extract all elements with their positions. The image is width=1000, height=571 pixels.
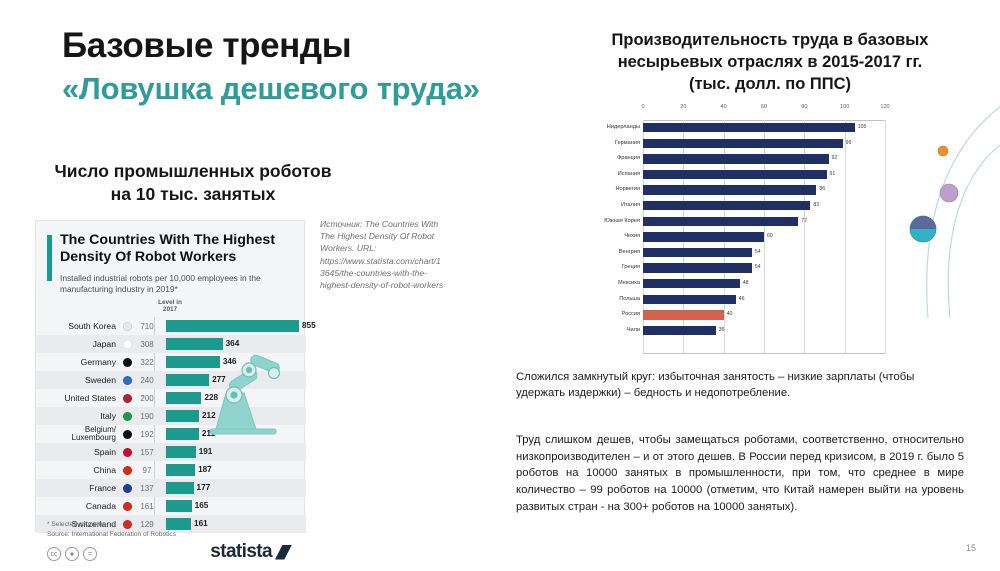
category-label: Норвегия (594, 185, 643, 194)
statista-row: France137177 (36, 479, 306, 497)
bar (166, 500, 192, 512)
bar (643, 248, 752, 257)
level-column-header: Level in2017 (146, 299, 194, 313)
statista-footnote: * Selected countries (47, 521, 106, 528)
category-label: Южная Корея (594, 217, 643, 226)
bar-value-label: 99 (843, 139, 852, 148)
country-label: United States (36, 394, 120, 403)
country-label: South Korea (36, 322, 120, 331)
flag-icon (120, 466, 134, 475)
orbit-arc-outer (927, 107, 1000, 318)
category-label: Италия (594, 201, 643, 210)
category-label: Испания (594, 170, 643, 179)
statista-row: Canada161165 (36, 497, 306, 515)
statista-logo: statista (210, 541, 292, 563)
flag-icon (120, 412, 134, 421)
x-tick-label: 80 (801, 104, 807, 110)
bar-cell: 177 (166, 482, 306, 494)
category-label: Нидерланды (594, 123, 643, 132)
bar (643, 139, 843, 148)
bar (643, 295, 736, 304)
category-label: Венгрия (594, 248, 643, 257)
left-chart-heading-line2: на 10 тыс. занятых (111, 184, 276, 204)
bar (643, 217, 798, 226)
page-title: Базовые тренды (62, 27, 351, 65)
x-axis-tick-labels: 020406080100120 (643, 104, 885, 118)
category-label: Чили (594, 326, 643, 335)
bar-value-label: 92 (829, 154, 838, 163)
chart-row: Италия83 (643, 198, 885, 214)
category-label: Россия (594, 310, 643, 319)
flag-icon (120, 520, 134, 529)
chart-row: Испания91 (643, 167, 885, 183)
chart-row: Венгрия54 (643, 245, 885, 261)
right-chart-title-line2: несырьевых отраслях в 2015-2017 гг. (618, 53, 923, 71)
chart-row: Германия99 (643, 136, 885, 152)
flag-icon (120, 430, 134, 439)
country-label: Germany (36, 358, 120, 367)
flag-icon (120, 322, 134, 331)
decorative-planets-graphic (880, 105, 1000, 320)
statista-infographic-card: The Countries With The Highest Density O… (35, 220, 305, 532)
x-tick-label: 100 (840, 104, 849, 110)
left-chart-heading-line1: Число промышленных роботов (55, 161, 332, 181)
bar (643, 170, 827, 179)
level-2017-value: 710 (134, 322, 160, 331)
bar (166, 464, 195, 476)
bar-value-label: 91 (827, 170, 836, 179)
statista-subtitle: Installed industrial robots per 10,000 e… (60, 273, 290, 296)
right-chart-title-line1: Производительность труда в базовых (612, 31, 929, 49)
bar-value-label: 36 (716, 326, 725, 335)
level-2017-value: 322 (134, 358, 160, 367)
bar-value-label: 86 (816, 185, 825, 194)
flag-icon (120, 502, 134, 511)
statista-source: Source: International Federation of Robo… (47, 531, 176, 538)
bar-value-label: 40 (724, 310, 733, 319)
bar-value-label: 46 (736, 295, 745, 304)
country-label: Spain (36, 448, 120, 457)
bar-value-label: 105 (855, 123, 867, 132)
category-label: Мексика (594, 279, 643, 288)
chart-row: Чили36 (643, 323, 885, 339)
bar-value-label: 187 (195, 464, 212, 476)
left-chart-heading: Число промышленных роботов на 10 тыс. за… (48, 160, 338, 206)
right-chart-title-line3: (тыс. долл. по ППС) (689, 75, 851, 93)
bar-value-label: 48 (740, 279, 749, 288)
category-label: Греция (594, 263, 643, 272)
page-number: 15 (966, 543, 976, 553)
statista-logo-text: statista (210, 541, 272, 563)
bar (643, 185, 816, 194)
bar-value-label: 855 (299, 320, 316, 332)
bar (643, 154, 829, 163)
paragraph-cheap-labor: Труд слишком дешев, чтобы замещаться роб… (516, 432, 964, 516)
bar (166, 392, 201, 404)
bar-value-label: 60 (764, 232, 773, 241)
flag-icon (120, 376, 134, 385)
planet-orange (938, 146, 948, 156)
category-label: Чехия (594, 232, 643, 241)
cc-icon: cc (47, 547, 61, 561)
level-2017-value: 200 (134, 394, 160, 403)
bar (643, 123, 855, 132)
x-tick-label: 60 (761, 104, 767, 110)
statista-row: China97187 (36, 461, 306, 479)
bar (166, 374, 209, 386)
country-label: Japan (36, 340, 120, 349)
paragraph-vicious-circle: Сложился замкнутый круг: избыточная заня… (516, 369, 936, 402)
statista-title: The Countries With The Highest Density O… (60, 232, 296, 266)
robot-arm-illustration (204, 345, 290, 441)
category-label: Польша (594, 295, 643, 304)
bar (643, 310, 724, 319)
statista-row: Spain157191 (36, 443, 306, 461)
level-2017-value: 190 (134, 412, 160, 421)
bar (643, 201, 810, 210)
bar (643, 326, 716, 335)
level-2017-value: 137 (134, 484, 160, 493)
country-label: China (36, 466, 120, 475)
chart-plot-area: Нидерланды105Германия99Франция92Испания9… (643, 120, 885, 354)
bar (643, 279, 740, 288)
bar-value-label: 54 (752, 263, 761, 272)
x-tick-label: 0 (641, 104, 644, 110)
bar-value-label: 83 (810, 201, 819, 210)
level-2017-value: 240 (134, 376, 160, 385)
flag-icon (120, 448, 134, 457)
country-label: Belgium/Luxembourg (36, 426, 120, 442)
bar-cell: 165 (166, 500, 306, 512)
bar-cell: 161 (166, 518, 306, 530)
statista-row: South Korea710855 (36, 317, 306, 335)
x-tick-label: 120 (880, 104, 889, 110)
gridline (885, 120, 886, 354)
bar (643, 263, 752, 272)
chart-row: Нидерланды105 (643, 120, 885, 136)
category-label: Германия (594, 139, 643, 148)
country-label: Canada (36, 502, 120, 511)
chart-row: Россия40 (643, 307, 885, 323)
page-subtitle: «Ловушка дешевого труда» (62, 72, 480, 105)
bar-value-label: 177 (194, 482, 211, 494)
bar-cell: 191 (166, 446, 306, 458)
creative-commons-icons: cc ● = (47, 547, 97, 561)
bar (166, 446, 196, 458)
flag-icon (120, 358, 134, 367)
cc-by-icon: ● (65, 547, 79, 561)
chart-row: Греция54 (643, 260, 885, 276)
level-2017-value: 161 (134, 502, 160, 511)
labor-productivity-chart: 020406080100120 Нидерланды105Германия99Ф… (595, 104, 885, 362)
bar-cell: 855 (166, 320, 306, 332)
category-label: Франция (594, 154, 643, 163)
source-note: Источник: The Countries With The Highest… (320, 218, 445, 291)
right-chart-title: Производительность труда в базовых несыр… (560, 30, 980, 96)
level-2017-value: 157 (134, 448, 160, 457)
orbit-arc-inner (948, 145, 1000, 318)
bar-cell: 187 (166, 464, 306, 476)
bar (166, 410, 199, 422)
level-2017-value: 129 (134, 520, 160, 529)
x-tick-label: 40 (721, 104, 727, 110)
planet-blue (910, 216, 936, 242)
chart-row: Франция92 (643, 151, 885, 167)
chart-row: Норвегия86 (643, 182, 885, 198)
bar-value-label: 54 (752, 248, 761, 257)
level-2017-value: 308 (134, 340, 160, 349)
chart-row: Польша46 (643, 292, 885, 308)
country-label: Sweden (36, 376, 120, 385)
bar (166, 518, 191, 530)
bar-value-label: 165 (192, 500, 209, 512)
level-2017-value: 97 (134, 466, 160, 475)
axis-bottom-line (643, 353, 885, 354)
planet-purple (940, 184, 958, 202)
chart-bar-rows: Нидерланды105Германия99Франция92Испания9… (643, 120, 885, 338)
accent-bar (47, 235, 52, 281)
bar (166, 320, 299, 332)
bar-value-label: 77 (798, 217, 807, 226)
bar-value-label: 161 (191, 518, 208, 530)
country-label: Italy (36, 412, 120, 421)
chart-row: Чехия60 (643, 229, 885, 245)
level-2017-value: 192 (134, 430, 160, 439)
flag-icon (120, 484, 134, 493)
x-tick-label: 20 (680, 104, 686, 110)
bar (166, 482, 194, 494)
flag-icon (120, 340, 134, 349)
bar (166, 428, 199, 440)
flag-icon (120, 394, 134, 403)
statista-logo-mark (275, 545, 292, 560)
cc-nd-icon: = (83, 547, 97, 561)
chart-row: Южная Корея77 (643, 214, 885, 230)
chart-row: Мексика48 (643, 276, 885, 292)
bar (643, 232, 764, 241)
slide-root: Базовые тренды «Ловушка дешевого труда» … (0, 0, 1000, 571)
bar-value-label: 191 (196, 446, 213, 458)
country-label: France (36, 484, 120, 493)
